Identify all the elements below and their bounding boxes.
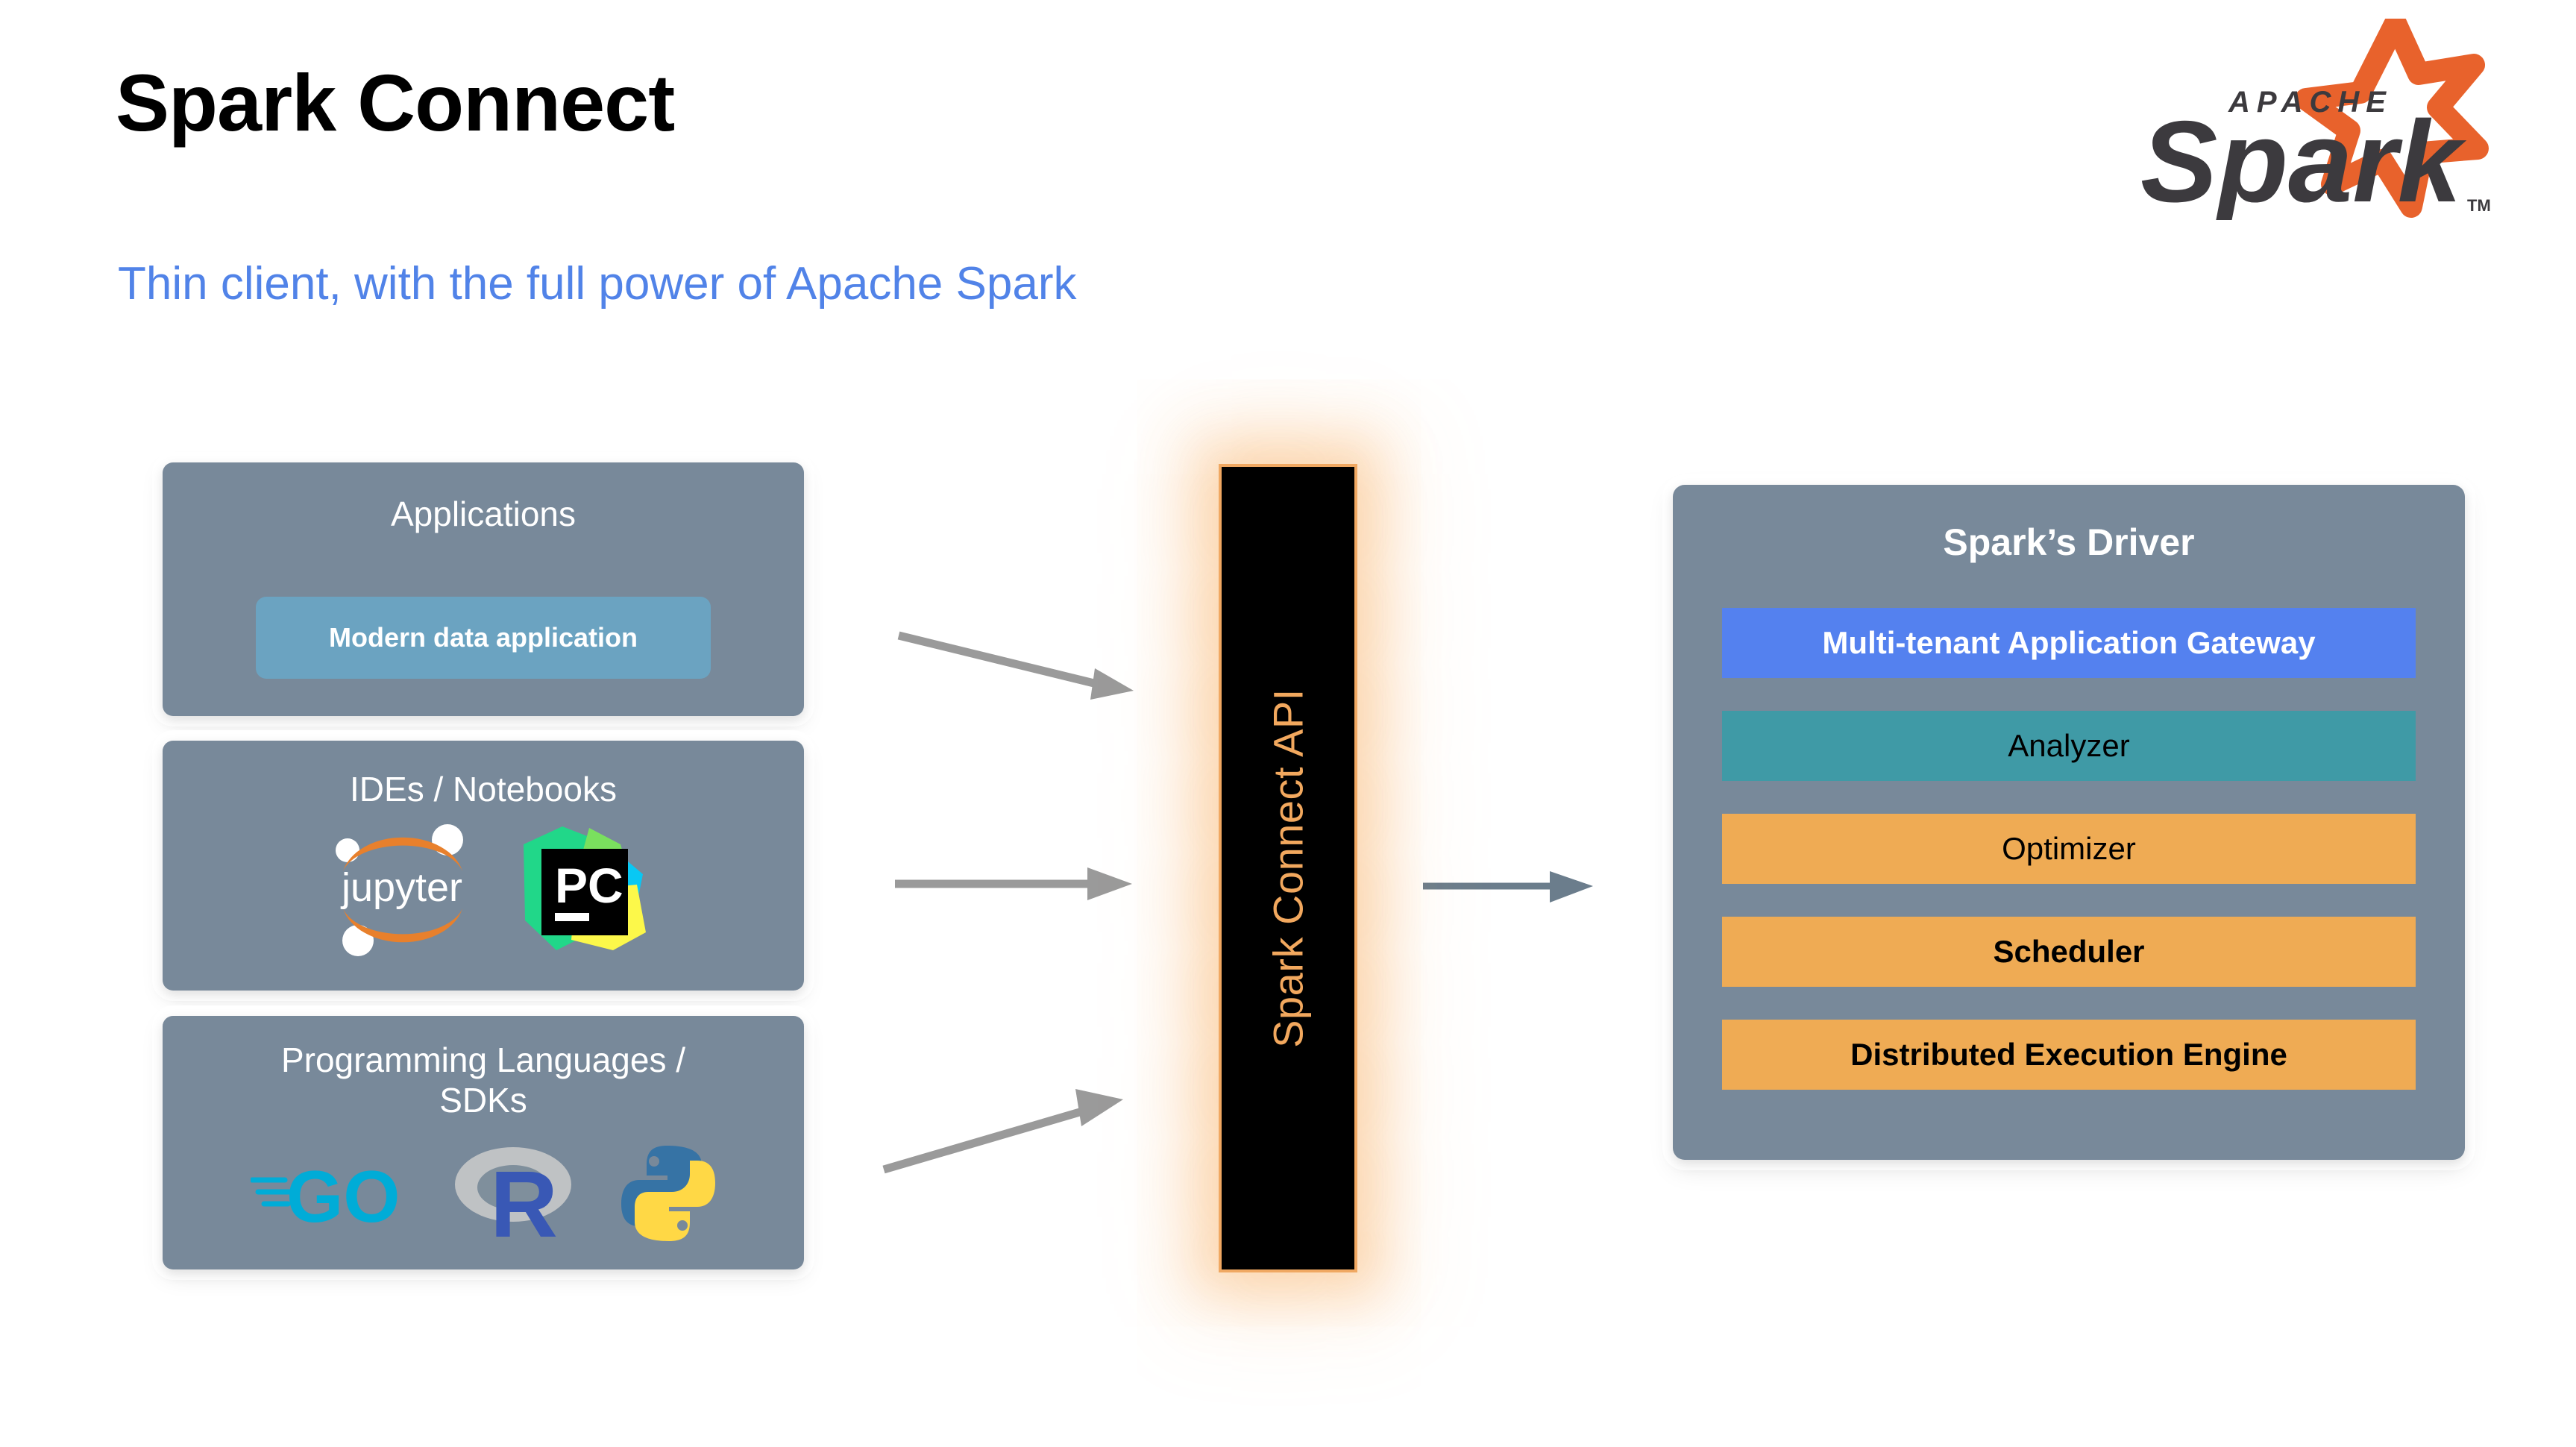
jupyter-logo: jupyter [316,819,488,961]
language-logo-row: GO R [163,1135,804,1255]
go-wordmark: GO [286,1155,400,1237]
spark-driver-row-list: Multi-tenant Application GatewayAnalyzer… [1722,608,2416,1090]
arrow-languages-to-api [880,1082,1149,1178]
panel-title-line1: Programming Languages / [281,1040,685,1079]
page-subtitle: Thin client, with the full power of Apac… [118,257,1076,310]
spark-wordmark: Spark [2140,97,2467,220]
spark-driver-row: Multi-tenant Application Gateway [1722,608,2416,678]
apache-spark-logo: APACHE Spark TM [2133,19,2506,220]
arrow-api-to-driver [1423,865,1617,910]
panel-title-applications: Applications [163,494,804,534]
go-logo: GO [251,1149,407,1242]
page-title: Spark Connect [116,56,674,149]
panel-title-programming-languages: Programming Languages / SDKs [163,1040,804,1121]
r-logo: R [448,1143,579,1247]
spark-driver-row: Analyzer [1722,711,2416,781]
spark-driver-row: Scheduler [1722,917,2416,987]
spark-driver-row: Optimizer [1722,814,2416,884]
pycharm-logo: PC [518,822,650,958]
arrow-applications-to-api [895,627,1163,716]
panel-title-line2: SDKs [439,1081,527,1120]
ides-logo-row: jupyter PC [163,819,804,961]
spark-driver-panel: Spark’s Driver Multi-tenant Application … [1673,485,2465,1160]
spark-connect-api-label: Spark Connect API [1264,688,1313,1048]
python-logo [620,1144,717,1246]
spark-connect-api-bar: Spark Connect API [1219,464,1357,1272]
spark-driver-title: Spark’s Driver [1673,521,2465,564]
client-panel-ides-notebooks: IDEs / Notebooks jupyter PC [163,741,804,991]
jupyter-wordmark: jupyter [340,865,462,910]
spark-driver-row: Distributed Execution Engine [1722,1020,2416,1090]
arrow-ides-to-api [895,861,1149,906]
client-panel-programming-languages: Programming Languages / SDKs GO R [163,1016,804,1269]
pycharm-pc-text: PC [555,858,623,913]
client-panel-applications: Applications Modern data application [163,462,804,716]
panel-title-ides-notebooks: IDEs / Notebooks [163,769,804,809]
r-letter: R [490,1152,558,1243]
modern-data-application-box: Modern data application [256,597,711,679]
trademark-mark: TM [2467,196,2491,215]
